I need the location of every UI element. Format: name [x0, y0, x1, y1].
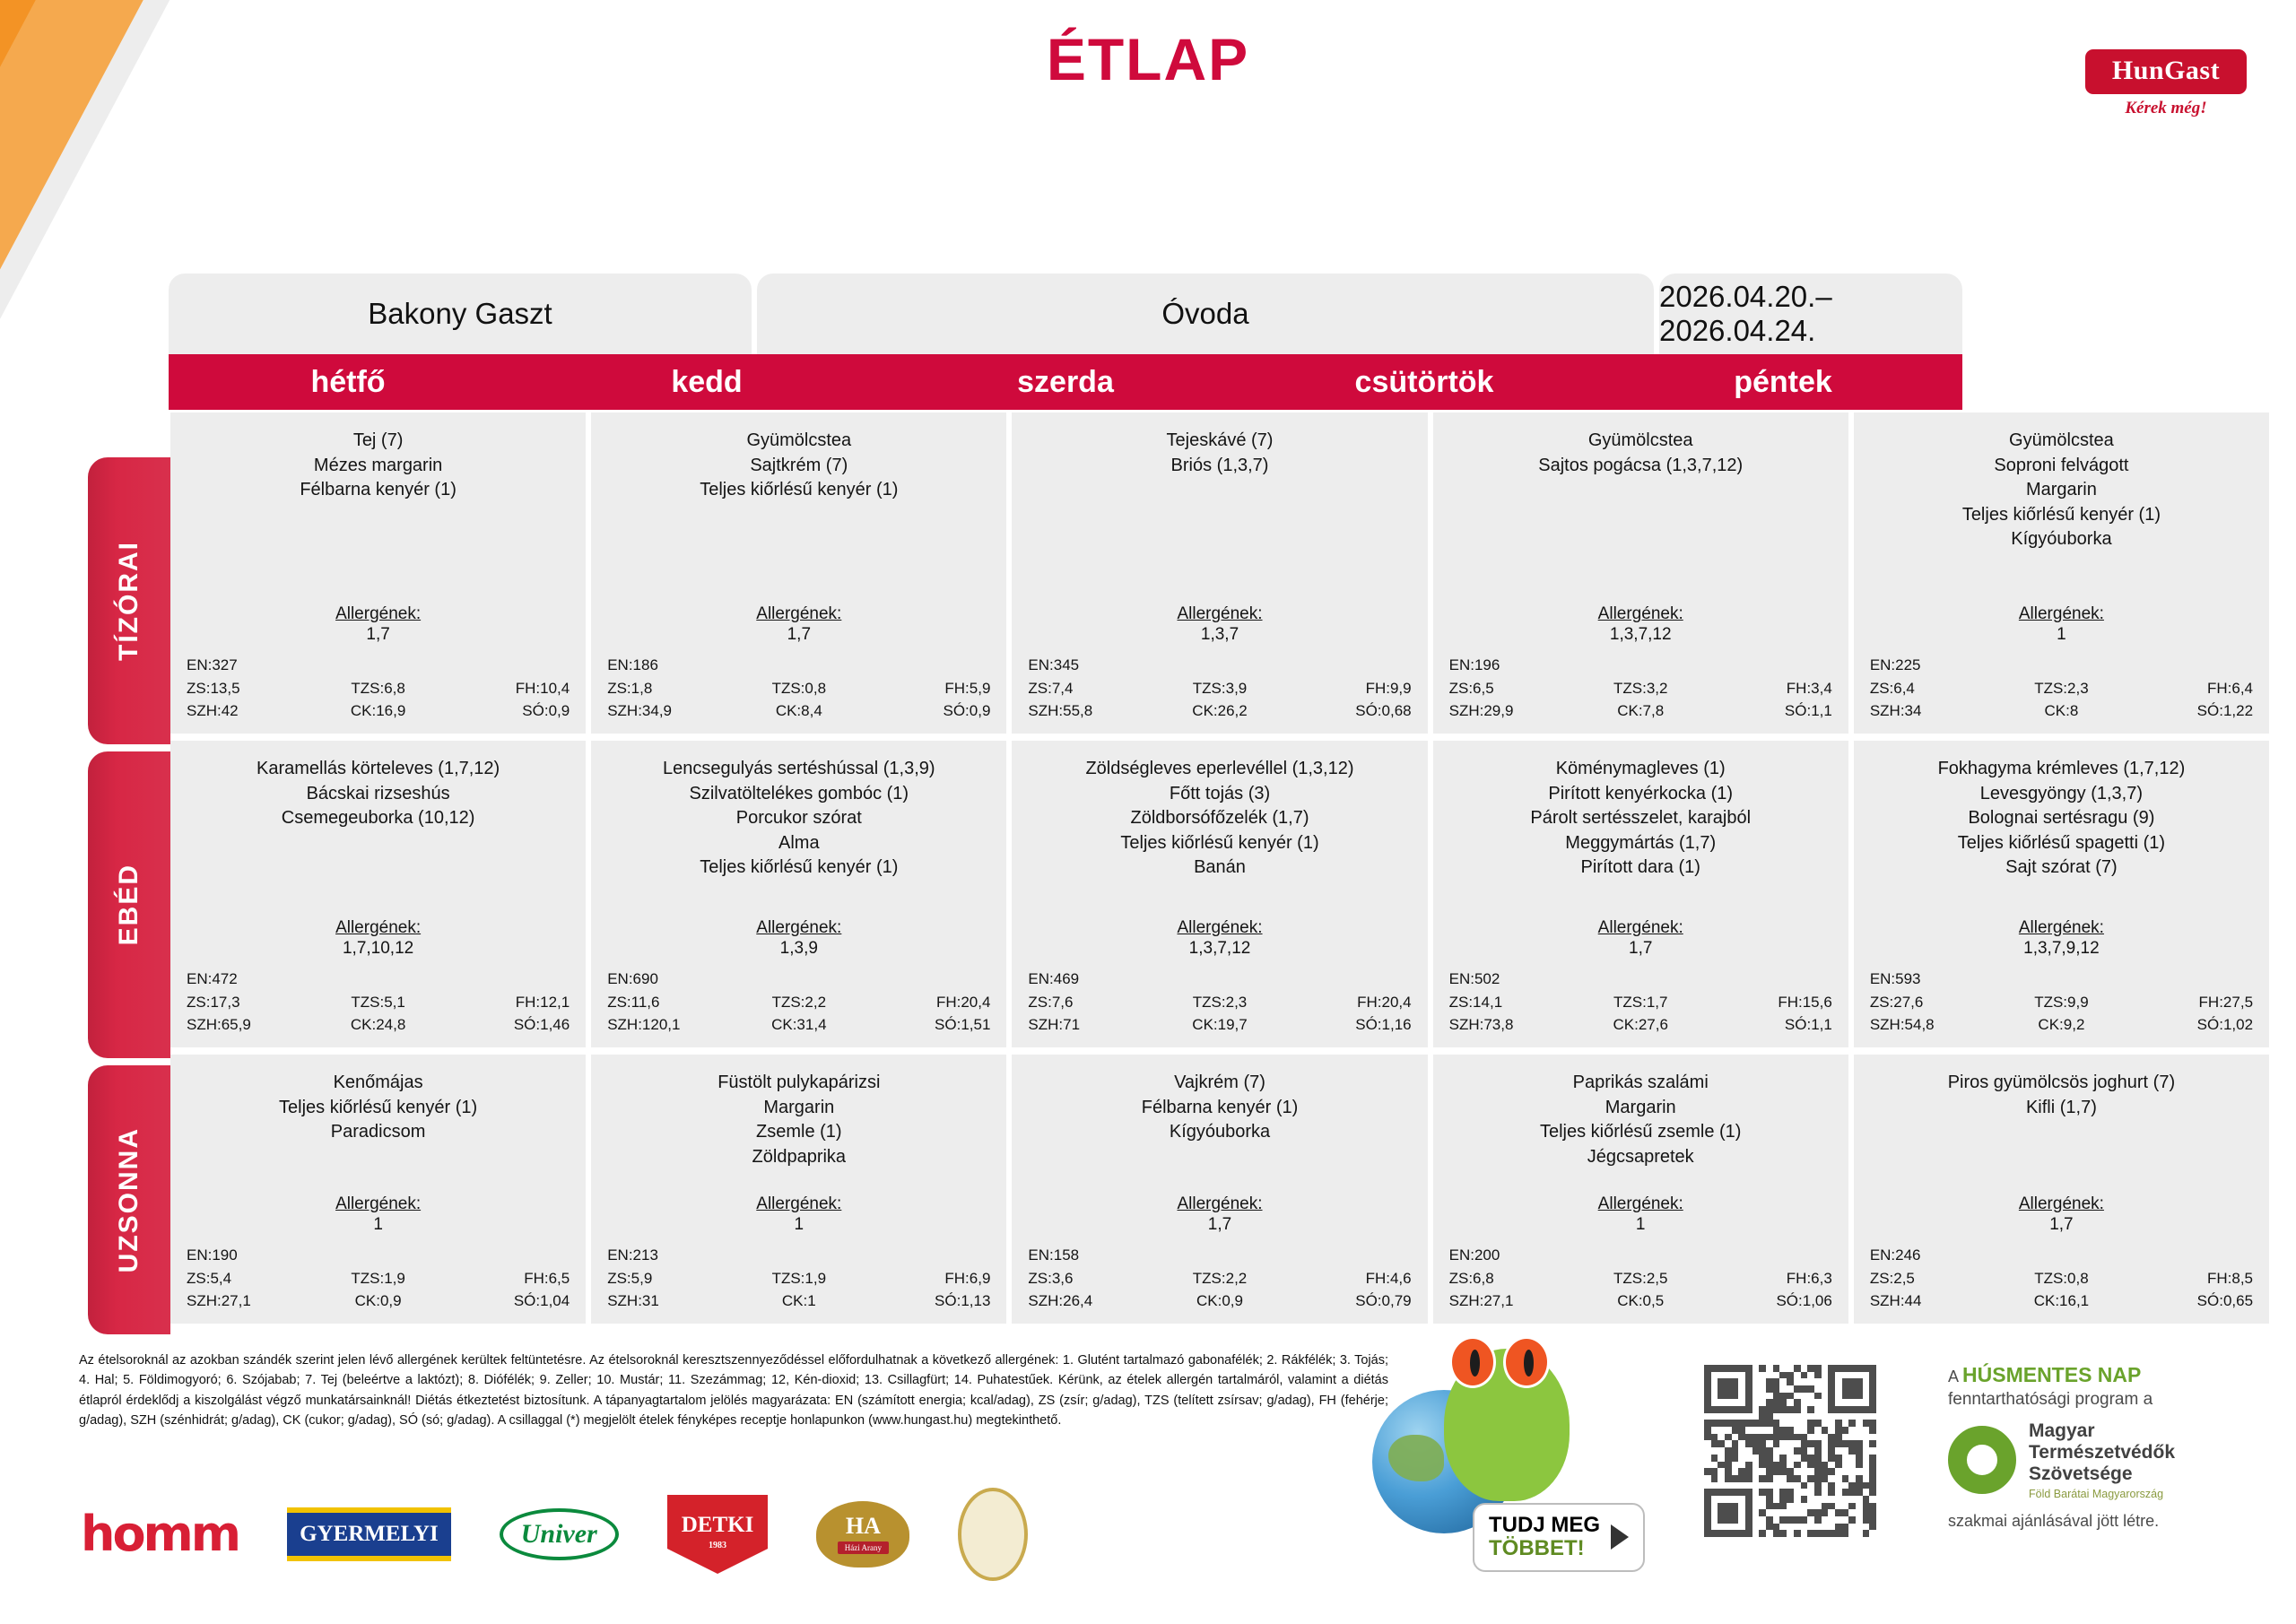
gold-seal-logo	[958, 1499, 1028, 1569]
nutrition-block: EN:196ZS:6,5TZS:3,2FH:3,4SZH:29,9CK:7,8S…	[1444, 656, 1838, 725]
meal-label-breakfast: TÍZÓRAI	[88, 457, 170, 744]
nutrition-ck: CK:19,7	[1156, 1016, 1283, 1034]
nutrition-energy: EN:246	[1865, 1246, 2258, 1264]
nutrition-block: EN:186ZS:1,8TZS:0,8FH:5,9SZH:34,9CK:8,4S…	[602, 656, 996, 725]
dish-item: Meggymártás (1,7)	[1444, 831, 1838, 856]
tab-institution[interactable]: Óvoda	[757, 274, 1654, 354]
nutrition-so: SÓ:0,9	[442, 702, 575, 720]
nutrition-energy: EN:213	[602, 1246, 996, 1264]
nutrition-row-1: ZS:2,5TZS:0,8FH:8,5	[1865, 1270, 2258, 1288]
nutrition-so: SÓ:1,13	[863, 1292, 996, 1310]
allergen-label: Allergének:	[181, 918, 575, 938]
dish-item: Párolt sertésszelet, karajból	[1444, 806, 1838, 831]
nutrition-szh: SZH:73,8	[1444, 1016, 1577, 1034]
nutrition-zs: ZS:17,3	[181, 994, 314, 1012]
meal-label-breakfast-text: TÍZÓRAI	[114, 541, 144, 661]
allergen-values: 1	[602, 1215, 996, 1235]
dish-item: Pirított kenyérkocka (1)	[1444, 782, 1838, 807]
allergen-label: Allergének:	[181, 1194, 575, 1214]
dish-list: Fokhagyma krémleves (1,7,12)Levesgyöngy …	[1865, 757, 2258, 881]
nutrition-ck: CK:8	[1997, 702, 2125, 720]
nutrition-fh: FH:6,9	[863, 1270, 996, 1288]
nutrition-tzs: TZS:2,5	[1577, 1270, 1704, 1288]
green-ring-icon	[1948, 1426, 2016, 1494]
menu-cell-breakfast-wednesday: Tejeskávé (7)Briós (1,3,7)Allergének:1,3…	[1012, 413, 1427, 734]
nutrition-row-2: SZH:26,4CK:0,9SÓ:0,79	[1022, 1292, 1416, 1310]
allergen-label: Allergének:	[1865, 918, 2258, 938]
allergen-label: Allergének:	[1865, 1194, 2258, 1214]
nutrition-ck: CK:8,4	[735, 702, 863, 720]
nutrition-so: SÓ:1,02	[2126, 1016, 2258, 1034]
dish-item: Sajtkrém (7)	[602, 454, 996, 479]
nutrition-row-2: SZH:31CK:1SÓ:1,13	[602, 1292, 996, 1310]
nutrition-zs: ZS:5,4	[181, 1270, 314, 1288]
qr-code[interactable]	[1704, 1365, 1876, 1537]
nutrition-szh: SZH:42	[181, 702, 314, 720]
allergen-block: Allergének:1	[602, 1194, 996, 1235]
learn-more-label: TUDJ MEG TÖBBET!	[1489, 1514, 1600, 1561]
detki-logo: DETKI 1983	[667, 1499, 769, 1569]
nutrition-so: SÓ:0,65	[2126, 1292, 2258, 1310]
nutrition-ck: CK:24,8	[314, 1016, 441, 1034]
dish-item: Karamellás körteleves (1,7,12)	[181, 757, 575, 782]
menu-cell-snack-tuesday: Füstölt pulykapárizsiMargarinZsemle (1)Z…	[591, 1055, 1006, 1324]
nutrition-szh: SZH:27,1	[181, 1292, 314, 1310]
dish-item: Paradicsom	[181, 1120, 575, 1145]
nutrition-szh: SZH:29,9	[1444, 702, 1577, 720]
nutrition-fh: FH:9,9	[1283, 680, 1416, 698]
allergen-label: Allergének:	[1022, 918, 1416, 938]
allergen-legend-text: Az ételsoroknál az azokban szándék szeri…	[79, 1350, 1388, 1431]
nutrition-fh: FH:4,6	[1283, 1270, 1416, 1288]
nutrition-ck: CK:16,1	[1997, 1292, 2125, 1310]
nutrition-ck: CK:7,8	[1577, 702, 1704, 720]
play-arrow-icon	[1611, 1524, 1629, 1550]
partner-brand-row: homm GYERMELYI Univer DETKI 1983 HA Házi…	[81, 1499, 1049, 1569]
menu-page: ÉTLAP HunGast Kérek még! Bakony Gaszt Óv…	[0, 0, 2296, 1624]
dish-item: Margarin	[1444, 1096, 1838, 1121]
nutrition-tzs: TZS:2,3	[1997, 680, 2125, 698]
nutrition-energy: EN:200	[1444, 1246, 1838, 1264]
nutrition-so: SÓ:1,06	[1704, 1292, 1837, 1310]
allergen-values: 1	[181, 1215, 575, 1235]
meal-label-snack-text: UZSONNA	[114, 1127, 144, 1272]
nutrition-row-1: ZS:7,4TZS:3,9FH:9,9	[1022, 680, 1416, 698]
nutrition-row-2: SZH:71CK:19,7SÓ:1,16	[1022, 1016, 1416, 1034]
gold-seal-emblem	[958, 1488, 1028, 1581]
nutrition-row-2: SZH:55,8CK:26,2SÓ:0,68	[1022, 702, 1416, 720]
allergen-block: Allergének:1,3,7,12	[1444, 604, 1838, 645]
dish-item: Szilvatöltelékes gombóc (1)	[602, 782, 996, 807]
dish-item: Gyümölcstea	[602, 429, 996, 454]
allergen-label: Allergének:	[181, 604, 575, 624]
nutrition-zs: ZS:2,5	[1865, 1270, 1997, 1288]
allergen-block: Allergének:1,3,7	[1022, 604, 1416, 645]
dish-list: Karamellás körteleves (1,7,12)Bácskai ri…	[181, 757, 575, 831]
husmentes-title: HÚSMENTES NAP	[1962, 1363, 2141, 1386]
nutrition-energy: EN:593	[1865, 970, 2258, 988]
nutrition-row-2: SZH:73,8CK:27,6SÓ:1,1	[1444, 1016, 1838, 1034]
dish-list: GyümölcsteaSajtkrém (7)Teljes kiőrlésű k…	[602, 429, 996, 503]
mtvsz-line1: Magyar	[2029, 1420, 2175, 1442]
nutrition-tzs: TZS:9,9	[1997, 994, 2125, 1012]
learn-more-line2: TÖBBET!	[1489, 1536, 1585, 1560]
nutrition-fh: FH:20,4	[1283, 994, 1416, 1012]
nutrition-szh: SZH:44	[1865, 1292, 1997, 1310]
allergen-values: 1,7	[602, 625, 996, 645]
dish-list: GyümölcsteaSoproni felvágottMargarinTelj…	[1865, 429, 2258, 552]
nutrition-fh: FH:6,4	[2126, 680, 2258, 698]
tab-date-range[interactable]: 2026.04.20.–2026.04.24.	[1659, 274, 1962, 354]
allergen-label: Allergének:	[1022, 604, 1416, 624]
dish-list: Lencsegulyás sertéshússal (1,3,9)Szilvat…	[602, 757, 996, 881]
nutrition-row-2: SZH:54,8CK:9,2SÓ:1,02	[1865, 1016, 2258, 1034]
allergen-label: Allergének:	[1444, 604, 1838, 624]
allergen-values: 1,7	[1444, 939, 1838, 959]
nutrition-so: SÓ:1,51	[863, 1016, 996, 1034]
nutrition-block: EN:225ZS:6,4TZS:2,3FH:6,4SZH:34CK:8SÓ:1,…	[1865, 656, 2258, 725]
nutrition-row-1: ZS:7,6TZS:2,3FH:20,4	[1022, 994, 1416, 1012]
allergen-block: Allergének:1,3,7,9,12	[1865, 918, 2258, 959]
nutrition-row-2: SZH:44CK:16,1SÓ:0,65	[1865, 1292, 2258, 1310]
dish-item: Sajtos pogácsa (1,3,7,12)	[1444, 454, 1838, 479]
allergen-block: Allergének:1	[1444, 1194, 1838, 1235]
mtvsz-subtitle: Föld Barátai Magyarország	[2029, 1488, 2175, 1500]
nutrition-row-1: ZS:6,4TZS:2,3FH:6,4	[1865, 680, 2258, 698]
nutrition-row-1: ZS:5,4TZS:1,9FH:6,5	[181, 1270, 575, 1288]
nutrition-zs: ZS:1,8	[602, 680, 735, 698]
dish-item: Kígyóuborka	[1865, 527, 2258, 552]
dish-item: Briós (1,3,7)	[1022, 454, 1416, 479]
page-title: ÉTLAP	[0, 25, 2296, 93]
nutrition-fh: FH:27,5	[2126, 994, 2258, 1012]
nutrition-szh: SZH:120,1	[602, 1016, 735, 1034]
nutrition-szh: SZH:65,9	[181, 1016, 314, 1034]
frog-icon	[1444, 1349, 1570, 1501]
nutrition-szh: SZH:55,8	[1022, 702, 1155, 720]
dish-item: Köménymagleves (1)	[1444, 757, 1838, 782]
nutrition-energy: EN:472	[181, 970, 575, 988]
dish-item: Gyümölcstea	[1444, 429, 1838, 454]
nutrition-block: EN:502ZS:14,1TZS:1,7FH:15,6SZH:73,8CK:27…	[1444, 970, 1838, 1038]
mtvsz-line3: Szövetsége	[2029, 1463, 2175, 1485]
nutrition-fh: FH:8,5	[2126, 1270, 2258, 1288]
menu-cell-lunch-thursday: Köménymagleves (1)Pirított kenyérkocka (…	[1433, 741, 1848, 1047]
allergen-block: Allergének:1,7	[1865, 1194, 2258, 1235]
day-header-row: hétfő kedd szerda csütörtök péntek	[169, 354, 1962, 410]
dish-item: Zöldborsófőzelék (1,7)	[1022, 806, 1416, 831]
dish-item: Soproni felvágott	[1865, 454, 2258, 479]
menu-cell-lunch-friday: Fokhagyma krémleves (1,7,12)Levesgyöngy …	[1854, 741, 2269, 1047]
day-header-monday: hétfő	[169, 354, 527, 410]
dish-list: Köménymagleves (1)Pirított kenyérkocka (…	[1444, 757, 1838, 881]
nutrition-tzs: TZS:5,1	[314, 994, 441, 1012]
nutrition-row-1: ZS:6,8TZS:2,5FH:6,3	[1444, 1270, 1838, 1288]
allergen-label: Allergének:	[602, 604, 996, 624]
meal-label-lunch-text: EBÉD	[114, 864, 144, 945]
nutrition-ck: CK:27,6	[1577, 1016, 1704, 1034]
nutrition-energy: EN:225	[1865, 656, 2258, 674]
dish-item: Teljes kiőrlésű kenyér (1)	[1022, 831, 1416, 856]
nutrition-szh: SZH:71	[1022, 1016, 1155, 1034]
dish-item: Teljes kiőrlésű kenyér (1)	[602, 478, 996, 503]
nutrition-row-1: ZS:3,6TZS:2,2FH:4,6	[1022, 1270, 1416, 1288]
hazi-arany-badge: HA Házi Arany	[816, 1501, 909, 1568]
nutrition-energy: EN:186	[602, 656, 996, 674]
nutrition-ck: CK:0,9	[1156, 1292, 1283, 1310]
allergen-values: 1,7,10,12	[181, 939, 575, 959]
allergen-block: Allergének:1	[1865, 604, 2258, 645]
nutrition-row-2: SZH:27,1CK:0,9SÓ:1,04	[181, 1292, 575, 1310]
menu-cell-lunch-tuesday: Lencsegulyás sertéshússal (1,3,9)Szilvat…	[591, 741, 1006, 1047]
nutrition-energy: EN:327	[181, 656, 575, 674]
allergen-label: Allergének:	[1444, 918, 1838, 938]
menu-cell-snack-thursday: Paprikás szalámiMargarinTeljes kiőrlésű …	[1433, 1055, 1848, 1324]
nutrition-row-2: SZH:65,9CK:24,8SÓ:1,46	[181, 1016, 575, 1034]
allergen-block: Allergének:1,3,9	[602, 918, 996, 959]
allergen-block: Allergének:1,7,10,12	[181, 918, 575, 959]
allergen-values: 1,7	[181, 625, 575, 645]
husmentes-footer-line: szakmai ajánlásával jött létre.	[1948, 1512, 2271, 1531]
nutrition-so: SÓ:1,22	[2126, 702, 2258, 720]
meal-label-snack: UZSONNA	[88, 1065, 170, 1334]
nutrition-szh: SZH:31	[602, 1292, 735, 1310]
day-header-friday: péntek	[1604, 354, 1962, 410]
dish-item: Főtt tojás (3)	[1022, 782, 1416, 807]
dish-item: Gyümölcstea	[1865, 429, 2258, 454]
dish-item: Teljes kiőrlésű zsemle (1)	[1444, 1120, 1838, 1145]
nutrition-zs: ZS:27,6	[1865, 994, 1997, 1012]
promo-frog-graphic: TUDJ MEG TÖBBET!	[1372, 1336, 1668, 1605]
nutrition-fh: FH:3,4	[1704, 680, 1837, 698]
allergen-values: 1,3,9	[602, 939, 996, 959]
nutrition-szh: SZH:34,9	[602, 702, 735, 720]
meal-row-snack: KenőmájasTeljes kiőrlésű kenyér (1)Parad…	[170, 1055, 2269, 1324]
univer-logo: Univer	[500, 1499, 619, 1569]
nutrition-energy: EN:158	[1022, 1246, 1416, 1264]
nutrition-zs: ZS:5,9	[602, 1270, 735, 1288]
allergen-label: Allergének:	[1022, 1194, 1416, 1214]
hazi-arany-ribbon: Házi Arany	[838, 1541, 889, 1554]
dish-item: Pirított dara (1)	[1444, 855, 1838, 881]
nutrition-zs: ZS:6,4	[1865, 680, 1997, 698]
nutrition-block: EN:246ZS:2,5TZS:0,8FH:8,5SZH:44CK:16,1SÓ…	[1865, 1246, 2258, 1315]
dish-item: Félbarna kenyér (1)	[1022, 1096, 1416, 1121]
nutrition-ck: CK:0,5	[1577, 1292, 1704, 1310]
nutrition-fh: FH:6,5	[442, 1270, 575, 1288]
nutrition-zs: ZS:6,8	[1444, 1270, 1577, 1288]
nutrition-so: SÓ:1,16	[1283, 1016, 1416, 1034]
day-header-tuesday: kedd	[527, 354, 886, 410]
nutrition-tzs: TZS:2,3	[1156, 994, 1283, 1012]
hazi-arany-logo: HA Házi Arany	[816, 1499, 909, 1569]
nutrition-block: EN:190ZS:5,4TZS:1,9FH:6,5SZH:27,1CK:0,9S…	[181, 1246, 575, 1315]
homm-wordmark: homm	[81, 1515, 239, 1553]
frog-eye-left-icon	[1449, 1336, 1496, 1388]
nutrition-zs: ZS:3,6	[1022, 1270, 1155, 1288]
nutrition-tzs: TZS:0,8	[1997, 1270, 2125, 1288]
menu-cell-snack-friday: Piros gyümölcsös joghurt (7)Kifli (1,7)A…	[1854, 1055, 2269, 1324]
nutrition-tzs: TZS:1,9	[735, 1270, 863, 1288]
nutrition-energy: EN:502	[1444, 970, 1838, 988]
frog-eye-right-icon	[1503, 1336, 1550, 1388]
nutrition-block: EN:469ZS:7,6TZS:2,3FH:20,4SZH:71CK:19,7S…	[1022, 970, 1416, 1038]
nutrition-zs: ZS:11,6	[602, 994, 735, 1012]
nutrition-zs: ZS:14,1	[1444, 994, 1577, 1012]
menu-cell-snack-wednesday: Vajkrém (7)Félbarna kenyér (1)Kígyóubork…	[1012, 1055, 1427, 1324]
dish-item: Margarin	[602, 1096, 996, 1121]
nutrition-zs: ZS:13,5	[181, 680, 314, 698]
dish-item: Tej (7)	[181, 429, 575, 454]
nutrition-row-2: SZH:34,9CK:8,4SÓ:0,9	[602, 702, 996, 720]
nutrition-row-1: ZS:27,6TZS:9,9FH:27,5	[1865, 994, 2258, 1012]
nutrition-so: SÓ:1,04	[442, 1292, 575, 1310]
dish-item: Margarin	[1865, 478, 2258, 503]
nutrition-szh: SZH:54,8	[1865, 1016, 1997, 1034]
dish-item: Kenőmájas	[181, 1071, 575, 1096]
nutrition-row-1: ZS:5,9TZS:1,9FH:6,9	[602, 1270, 996, 1288]
nutrition-so: SÓ:1,46	[442, 1016, 575, 1034]
dish-item: Alma	[602, 831, 996, 856]
dish-list: KenőmájasTeljes kiőrlésű kenyér (1)Parad…	[181, 1071, 575, 1145]
nutrition-ck: CK:16,9	[314, 702, 441, 720]
nutrition-block: EN:690ZS:11,6TZS:2,2FH:20,4SZH:120,1CK:3…	[602, 970, 996, 1038]
allergen-values: 1,3,7,9,12	[1865, 939, 2258, 959]
menu-cell-breakfast-tuesday: GyümölcsteaSajtkrém (7)Teljes kiőrlésű k…	[591, 413, 1006, 734]
allergen-block: Allergének:1,7	[602, 604, 996, 645]
dish-list: Paprikás szalámiMargarinTeljes kiőrlésű …	[1444, 1071, 1838, 1169]
dish-item: Zsemle (1)	[602, 1120, 996, 1145]
dish-item: Teljes kiőrlésű kenyér (1)	[602, 855, 996, 881]
header-tabs: Bakony Gaszt Óvoda 2026.04.20.–2026.04.2…	[169, 274, 1962, 354]
allergen-values: 1	[1865, 625, 2258, 645]
allergen-block: Allergének:1,7	[181, 604, 575, 645]
nutrition-tzs: TZS:3,2	[1577, 680, 1704, 698]
dish-item: Lencsegulyás sertéshússal (1,3,9)	[602, 757, 996, 782]
menu-cell-breakfast-thursday: GyümölcsteaSajtos pogácsa (1,3,7,12)Alle…	[1433, 413, 1848, 734]
dish-item: Vajkrém (7)	[1022, 1071, 1416, 1096]
dish-item: Zöldségleves eperlevéllel (1,3,12)	[1022, 757, 1416, 782]
nutrition-tzs: TZS:6,8	[314, 680, 441, 698]
day-header-thursday: csütörtök	[1245, 354, 1604, 410]
allergen-values: 1,3,7,12	[1022, 939, 1416, 959]
menu-cell-breakfast-friday: GyümölcsteaSoproni felvágottMargarinTelj…	[1854, 413, 2269, 734]
nutrition-row-1: ZS:6,5TZS:3,2FH:3,4	[1444, 680, 1838, 698]
nutrition-energy: EN:345	[1022, 656, 1416, 674]
dish-item: Zöldpaprika	[602, 1145, 996, 1170]
dish-item: Csemegeuborka (10,12)	[181, 806, 575, 831]
homm-logo: homm	[81, 1499, 239, 1569]
nutrition-row-2: SZH:120,1CK:31,4SÓ:1,51	[602, 1016, 996, 1034]
nutrition-so: SÓ:1,1	[1704, 1016, 1837, 1034]
dish-item: Bácskai rizseshús	[181, 782, 575, 807]
nutrition-block: EN:158ZS:3,6TZS:2,2FH:4,6SZH:26,4CK:0,9S…	[1022, 1246, 1416, 1315]
dish-list: Tej (7)Mézes margarinFélbarna kenyér (1)	[181, 429, 575, 503]
nutrition-tzs: TZS:1,7	[1577, 994, 1704, 1012]
footer-legal-text: Az ételsoroknál az azokban szándék szeri…	[79, 1350, 1388, 1431]
mtvsz-line2: Természetvédők	[2029, 1442, 2175, 1463]
nutrition-fh: FH:20,4	[863, 994, 996, 1012]
allergen-block: Allergének:1,7	[1022, 1194, 1416, 1235]
allergen-block: Allergének:1,7	[1444, 918, 1838, 959]
allergen-values: 1,3,7	[1022, 625, 1416, 645]
nutrition-row-1: ZS:1,8TZS:0,8FH:5,9	[602, 680, 996, 698]
univer-wordmark: Univer	[500, 1508, 619, 1560]
learn-more-button[interactable]: TUDJ MEG TÖBBET!	[1473, 1503, 1645, 1572]
meal-row-lunch: Karamellás körteleves (1,7,12)Bácskai ri…	[170, 741, 2269, 1047]
gyermelyi-logo: GYERMELYI	[287, 1499, 451, 1569]
allergen-values: 1,7	[1022, 1215, 1416, 1235]
dish-item: Félbarna kenyér (1)	[181, 478, 575, 503]
nutrition-ck: CK:31,4	[735, 1016, 863, 1034]
dish-item: Sajt szórat (7)	[1865, 855, 2258, 881]
nutrition-tzs: TZS:1,9	[314, 1270, 441, 1288]
nutrition-fh: FH:15,6	[1704, 994, 1837, 1012]
nutrition-so: SÓ:0,9	[863, 702, 996, 720]
detki-wordmark: DETKI	[682, 1513, 754, 1537]
nutrition-energy: EN:196	[1444, 656, 1838, 674]
nutrition-block: EN:213ZS:5,9TZS:1,9FH:6,9SZH:31CK:1SÓ:1,…	[602, 1246, 996, 1315]
nutrition-ck: CK:9,2	[1997, 1016, 2125, 1034]
nutrition-row-1: ZS:17,3TZS:5,1FH:12,1	[181, 994, 575, 1012]
nutrition-block: EN:472ZS:17,3TZS:5,1FH:12,1SZH:65,9CK:24…	[181, 970, 575, 1038]
nutrition-tzs: TZS:3,9	[1156, 680, 1283, 698]
allergen-label: Allergének:	[602, 918, 996, 938]
nutrition-zs: ZS:7,6	[1022, 994, 1155, 1012]
nutrition-fh: FH:6,3	[1704, 1270, 1837, 1288]
detki-year: 1983	[682, 1541, 754, 1550]
nutrition-energy: EN:469	[1022, 970, 1416, 988]
hazi-arany-initials: HA	[846, 1515, 881, 1538]
nutrition-zs: ZS:6,5	[1444, 680, 1577, 698]
menu-cell-lunch-monday: Karamellás körteleves (1,7,12)Bácskai ri…	[170, 741, 586, 1047]
husmentes-headline: A HÚSMENTES NAP	[1948, 1363, 2271, 1387]
dish-item: Jégcsapretek	[1444, 1145, 1838, 1170]
nutrition-tzs: TZS:2,2	[735, 994, 863, 1012]
dish-list: Zöldségleves eperlevéllel (1,3,12)Főtt t…	[1022, 757, 1416, 881]
nutrition-row-1: ZS:11,6TZS:2,2FH:20,4	[602, 994, 996, 1012]
nutrition-block: EN:200ZS:6,8TZS:2,5FH:6,3SZH:27,1CK:0,5S…	[1444, 1246, 1838, 1315]
learn-more-line1: TUDJ MEG	[1489, 1513, 1600, 1537]
mtvsz-name: Magyar Természetvédők Szövetsége Föld Ba…	[2029, 1420, 2175, 1500]
dish-item: Kígyóuborka	[1022, 1120, 1416, 1145]
dish-list: Tejeskávé (7)Briós (1,3,7)	[1022, 429, 1416, 478]
nutrition-row-2: SZH:34CK:8SÓ:1,22	[1865, 702, 2258, 720]
hungast-logo: HunGast Kérek még!	[2085, 49, 2247, 118]
nutrition-tzs: TZS:2,2	[1156, 1270, 1283, 1288]
nutrition-row-2: SZH:27,1CK:0,5SÓ:1,06	[1444, 1292, 1838, 1310]
menu-cell-breakfast-monday: Tej (7)Mézes margarinFélbarna kenyér (1)…	[170, 413, 586, 734]
nutrition-fh: FH:5,9	[863, 680, 996, 698]
dish-item: Kifli (1,7)	[1865, 1096, 2258, 1121]
dish-item: Teljes kiőrlésű kenyér (1)	[1865, 503, 2258, 528]
menu-cell-lunch-wednesday: Zöldségleves eperlevéllel (1,3,12)Főtt t…	[1012, 741, 1427, 1047]
dish-item: Porcukor szórat	[602, 806, 996, 831]
nutrition-fh: FH:10,4	[442, 680, 575, 698]
nutrition-so: SÓ:0,79	[1283, 1292, 1416, 1310]
allergen-label: Allergének:	[1865, 604, 2258, 624]
nutrition-block: EN:345ZS:7,4TZS:3,9FH:9,9SZH:55,8CK:26,2…	[1022, 656, 1416, 725]
dish-item: Paprikás szalámi	[1444, 1071, 1838, 1096]
tab-site-name[interactable]: Bakony Gaszt	[169, 274, 752, 354]
nutrition-energy: EN:190	[181, 1246, 575, 1264]
meal-label-lunch: EBÉD	[88, 751, 170, 1058]
dish-item: Fokhagyma krémleves (1,7,12)	[1865, 757, 2258, 782]
meal-row-breakfast: Tej (7)Mézes margarinFélbarna kenyér (1)…	[170, 413, 2269, 734]
menu-grid: Tej (7)Mézes margarinFélbarna kenyér (1)…	[170, 413, 2269, 1331]
nutrition-row-2: SZH:42CK:16,9SÓ:0,9	[181, 702, 575, 720]
nutrition-energy: EN:690	[602, 970, 996, 988]
